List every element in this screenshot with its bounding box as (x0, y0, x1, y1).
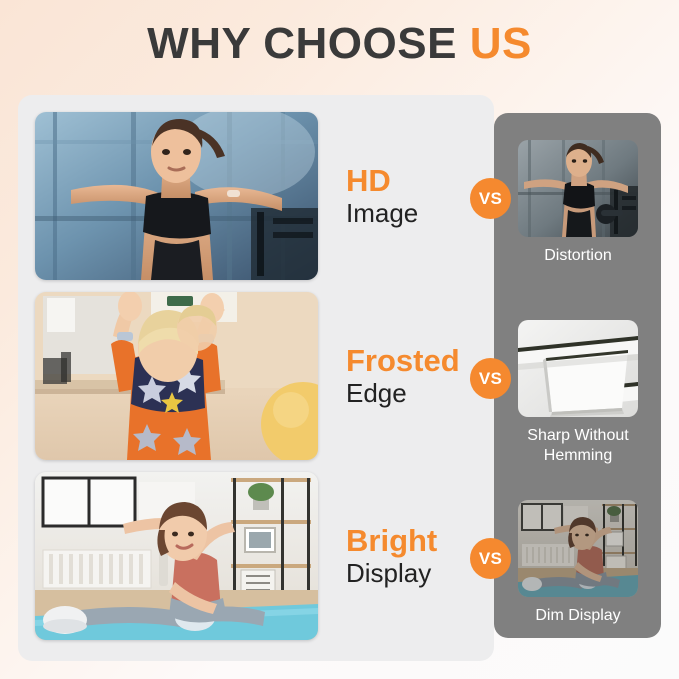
feature-row-bright-display: Bright Display (35, 472, 475, 640)
feature-photo-hd-image (35, 112, 318, 280)
comparison-cell-sharp-without-hemming: Sharp Without Hemming (518, 320, 638, 466)
feature-row-hd-image: HD Image (35, 112, 475, 280)
vs-badge: VS (470, 178, 511, 219)
page-title-main: WHY CHOOSE (147, 19, 470, 68)
feature-headline: Bright (346, 524, 437, 559)
comparison-thumb-distortion (518, 140, 638, 237)
comparison-cell-dim-display: Dim Display (518, 500, 638, 626)
comparison-cell-distortion: Distortion (518, 140, 638, 266)
feature-label-bright-display: Bright Display (346, 524, 437, 588)
feature-subline: Edge (346, 379, 460, 408)
comparison-thumb-sharp-edges (518, 320, 638, 417)
comparison-thumb-dim-display (518, 500, 638, 597)
comparison-label: Sharp Without Hemming (518, 426, 638, 466)
feature-headline: Frosted (346, 344, 460, 379)
feature-row-frosted-edge: Frosted Edge (35, 292, 475, 460)
feature-headline: HD (346, 164, 418, 199)
feature-photo-bright-display (35, 472, 318, 640)
feature-subline: Display (346, 559, 437, 588)
comparison-label: Distortion (518, 246, 638, 266)
vs-badge: VS (470, 538, 511, 579)
page-title: WHY CHOOSE US (0, 22, 679, 66)
feature-subline: Image (346, 199, 418, 228)
page-title-accent: US (470, 19, 532, 68)
comparison-label: Dim Display (518, 606, 638, 626)
feature-label-frosted-edge: Frosted Edge (346, 344, 460, 408)
feature-photo-frosted-edge (35, 292, 318, 460)
vs-badge: VS (470, 358, 511, 399)
feature-label-hd-image: HD Image (346, 164, 418, 228)
